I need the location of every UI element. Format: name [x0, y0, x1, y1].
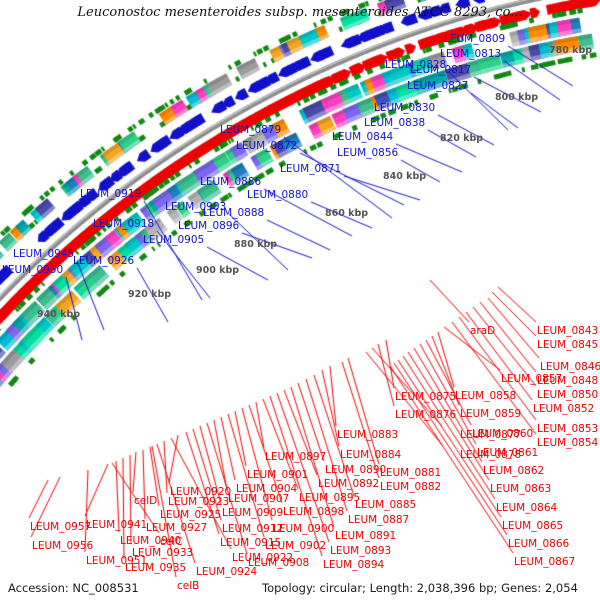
- gene-label[interactable]: LEUM_0879: [220, 125, 281, 136]
- gene-label[interactable]: LEUM_0858: [455, 391, 516, 402]
- gene-label[interactable]: LEUM_0941: [86, 520, 147, 531]
- gene-label[interactable]: LEUM_0884: [340, 450, 401, 461]
- gene-label[interactable]: LEUM_0859: [460, 409, 521, 420]
- gene-label[interactable]: LEUM_0867: [514, 557, 575, 568]
- gene-label[interactable]: LEUM_0892: [318, 479, 379, 490]
- gene-label[interactable]: LEUM_0912: [222, 524, 283, 535]
- gene-label[interactable]: LEUM_0854: [537, 438, 598, 449]
- gene-label[interactable]: LEUM_0924: [196, 567, 257, 578]
- gene-label[interactable]: LEUM_0882: [380, 482, 441, 493]
- gene-label[interactable]: LEUM_0880: [247, 190, 308, 201]
- gene-label[interactable]: araD: [470, 326, 495, 337]
- gene-label[interactable]: LEUM_0865: [502, 521, 563, 532]
- gene-label[interactable]: LEUM_0857: [501, 374, 562, 385]
- topology-summary-text: Topology: circular; Length: 2,038,396 bp…: [262, 581, 578, 595]
- gene-label[interactable]: LEUM_0864: [496, 503, 557, 514]
- gene-label[interactable]: LEUM_0830: [374, 103, 435, 114]
- gene-label[interactable]: LEUM_0838: [364, 118, 425, 129]
- axis-tick-label: 880 kbp: [234, 240, 277, 250]
- gene-label[interactable]: LEUM_0890: [325, 465, 386, 476]
- gene-label[interactable]: LEUM_0895: [299, 493, 360, 504]
- axis-tick-label: 920 kbp: [128, 290, 171, 300]
- gene-label[interactable]: LEUM_0862: [483, 466, 544, 477]
- gene-label[interactable]: LEUM_0827: [407, 81, 468, 92]
- accession-text: Accession: NC_008531: [8, 581, 139, 595]
- axis-tick-label: 900 kbp: [196, 266, 239, 276]
- gene-label[interactable]: LEUM_0915: [220, 538, 281, 549]
- gene-label[interactable]: LEUM_0905: [143, 235, 204, 246]
- gene-label[interactable]: LEUM_0875: [395, 392, 456, 403]
- axis-tick-label: 940 kbp: [37, 310, 80, 320]
- axis-tick-label: 820 kbp: [440, 134, 483, 144]
- gene-label[interactable]: LEUM_0907: [228, 494, 289, 505]
- gene-label[interactable]: LEUM_0872: [236, 141, 297, 152]
- axis-tick-label: 860 kbp: [325, 209, 368, 219]
- gene-label[interactable]: LEUM_0871: [280, 164, 341, 175]
- gene-label[interactable]: LEUM_0850: [537, 390, 598, 401]
- gene-label[interactable]: LEUM_0845: [537, 340, 598, 351]
- gene-label[interactable]: LEUM_0925: [160, 510, 221, 521]
- gene-label[interactable]: LEUM_0877: [460, 430, 521, 441]
- axis-tick-label: 780 kbp: [549, 46, 592, 56]
- axis-tick-label: 800 kbp: [495, 93, 538, 103]
- gene-label[interactable]: LEUM_0866: [508, 539, 569, 550]
- gene-label[interactable]: LEUM_0909: [222, 508, 283, 519]
- gene-label[interactable]: LEUM_0846: [540, 362, 600, 373]
- gene-label[interactable]: LEUM_0898: [283, 507, 344, 518]
- gene-label[interactable]: LEUM_0901: [247, 470, 308, 481]
- gene-label[interactable]: LEUM_0813: [440, 49, 501, 60]
- gene-label[interactable]: LEUM_0863: [490, 484, 551, 495]
- gene-label[interactable]: LEUM_0896: [178, 221, 239, 232]
- axis-tick-label: 840 kbp: [383, 172, 426, 182]
- gene-label[interactable]: LEUM_0950: [2, 265, 63, 276]
- gene-label[interactable]: LEUM_0926: [73, 256, 134, 267]
- page-title: Leuconostoc mesenteroides subsp. mesente…: [0, 5, 600, 20]
- gene-label[interactable]: celD: [134, 496, 157, 507]
- gene-label[interactable]: LEUM_0883: [337, 430, 398, 441]
- gene-label[interactable]: celC: [160, 537, 182, 548]
- gene-label[interactable]: LEUM_0918: [93, 219, 154, 230]
- gene-label[interactable]: LEUM_0957: [30, 522, 91, 533]
- gene-label[interactable]: LEUM_0852: [533, 404, 594, 415]
- gene-label[interactable]: LEUM_0886: [200, 177, 261, 188]
- gene-label[interactable]: LEUM_0922: [232, 553, 293, 564]
- gene-label[interactable]: LEUM_0897: [265, 452, 326, 463]
- gene-label[interactable]: LEUM_0878: [460, 450, 521, 461]
- gene-label[interactable]: LEUM_0887: [348, 515, 409, 526]
- gene-label[interactable]: LEUM_0843: [537, 326, 598, 337]
- gene-label[interactable]: LEUM_0828: [385, 60, 446, 71]
- gene-label[interactable]: LEUM_0876: [395, 410, 456, 421]
- gene-label[interactable]: LEUM_0956: [32, 541, 93, 552]
- genome-map-viewer: Leuconostoc mesenteroides subsp. mesente…: [0, 0, 600, 600]
- gene-label[interactable]: LEUM_0893: [330, 546, 391, 557]
- gene-label[interactable]: LEUM_0809: [444, 34, 505, 45]
- gene-label[interactable]: LEUM_0923: [168, 497, 229, 508]
- gene-label[interactable]: LEUM_0881: [380, 468, 441, 479]
- gene-label[interactable]: LEUM_0927: [146, 523, 207, 534]
- gene-label[interactable]: LEUM_0853: [537, 424, 598, 435]
- gene-label[interactable]: LEUM_0844: [332, 132, 393, 143]
- gene-label[interactable]: LEUM_0945: [13, 249, 74, 260]
- gene-label[interactable]: LEUM_0894: [323, 560, 384, 571]
- gene-label[interactable]: LEUM_0951: [86, 556, 147, 567]
- gene-label[interactable]: LEUM_0891: [335, 531, 396, 542]
- gene-label[interactable]: LEUM_0885: [355, 500, 416, 511]
- gene-label[interactable]: LEUM_0903: [165, 202, 226, 213]
- gene-label[interactable]: celB: [177, 581, 199, 592]
- gene-label[interactable]: LEUM_0856: [337, 148, 398, 159]
- gene-label[interactable]: LEUM_0919: [80, 189, 141, 200]
